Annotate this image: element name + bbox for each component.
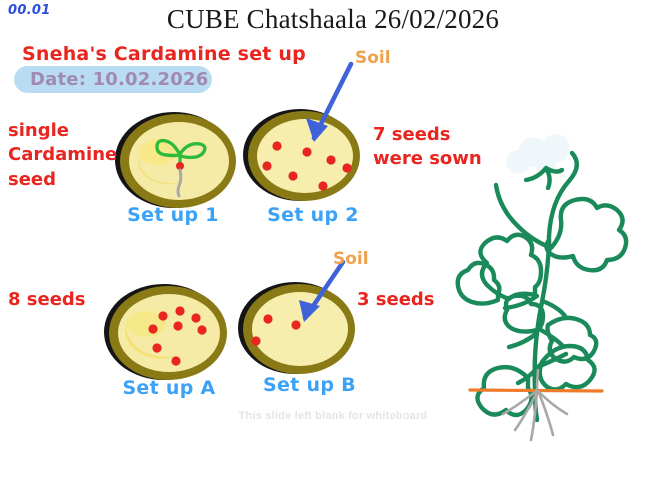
dish-label-setup-1: Set up 1 [118, 204, 228, 226]
annotation-soil-bottom: Soil [333, 249, 369, 269]
date-label: Date: 10.02.2026 [30, 69, 208, 90]
annotation-soil-top: Soil [355, 48, 391, 68]
dish-label-setup-2: Set up 2 [258, 204, 368, 226]
petri-dish-setup-1 [115, 112, 236, 208]
petri-dish-setup-b [238, 282, 355, 374]
annotation-three-seeds: 3 seeds [357, 288, 435, 312]
annotation-single-seed: single Cardamine seed [8, 119, 117, 192]
cardamine-plant-drawing [458, 153, 626, 420]
petri-dish-setup-2 [243, 109, 360, 201]
petri-dish-setup-a [104, 284, 227, 380]
page-title: CUBE Chatshaala 26/02/2026 [0, 4, 666, 35]
slide-canvas: 00.01 CUBE Chatshaala 26/02/2026 Sneha's… [0, 0, 666, 500]
whiteboard-watermark: This slide left blank for whiteboard [0, 410, 666, 422]
dish-label-setup-b: Set up B [252, 374, 367, 396]
dish-label-setup-a: Set up A [114, 377, 224, 399]
annotation-eight-seeds: 8 seeds [8, 288, 86, 312]
slide-subtitle: Sneha's Cardamine set up [22, 43, 306, 65]
annotation-seven-seeds: 7 seeds were sown [373, 123, 482, 172]
watermark-blobs [506, 134, 570, 174]
